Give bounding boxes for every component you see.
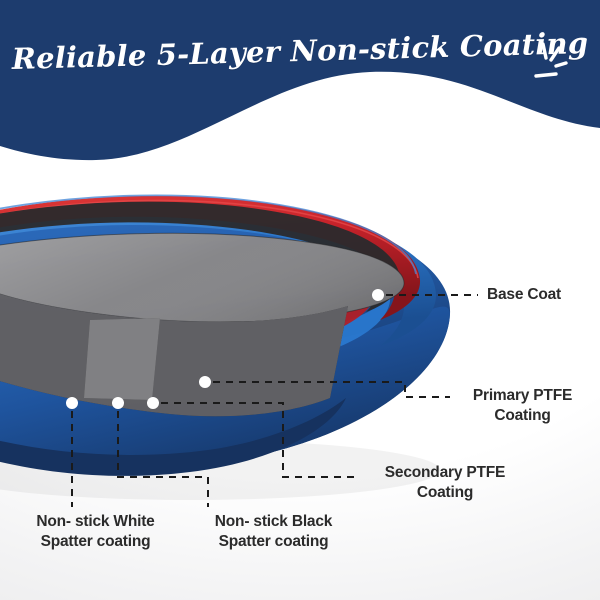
callout-label-black-spatter: Non- stick Black Spatter coating	[186, 512, 361, 553]
infographic-canvas: Reliable 5-Layer Non-stick Coating	[0, 0, 600, 600]
marker-black-spatter	[112, 397, 124, 409]
callout-label-secondary-ptfe: Secondary PTFE Coating	[365, 463, 525, 504]
callout-label-base-coat: Base Coat	[487, 285, 561, 305]
marker-primary-ptfe	[199, 376, 211, 388]
marker-secondary-ptfe	[147, 397, 159, 409]
cut-notch-texture	[84, 318, 160, 400]
marker-base-coat	[372, 289, 384, 301]
callout-label-primary-ptfe: Primary PTFE Coating	[455, 386, 590, 427]
marker-white-spatter	[66, 397, 78, 409]
callout-label-white-spatter: Non- stick White Spatter coating	[8, 512, 183, 553]
